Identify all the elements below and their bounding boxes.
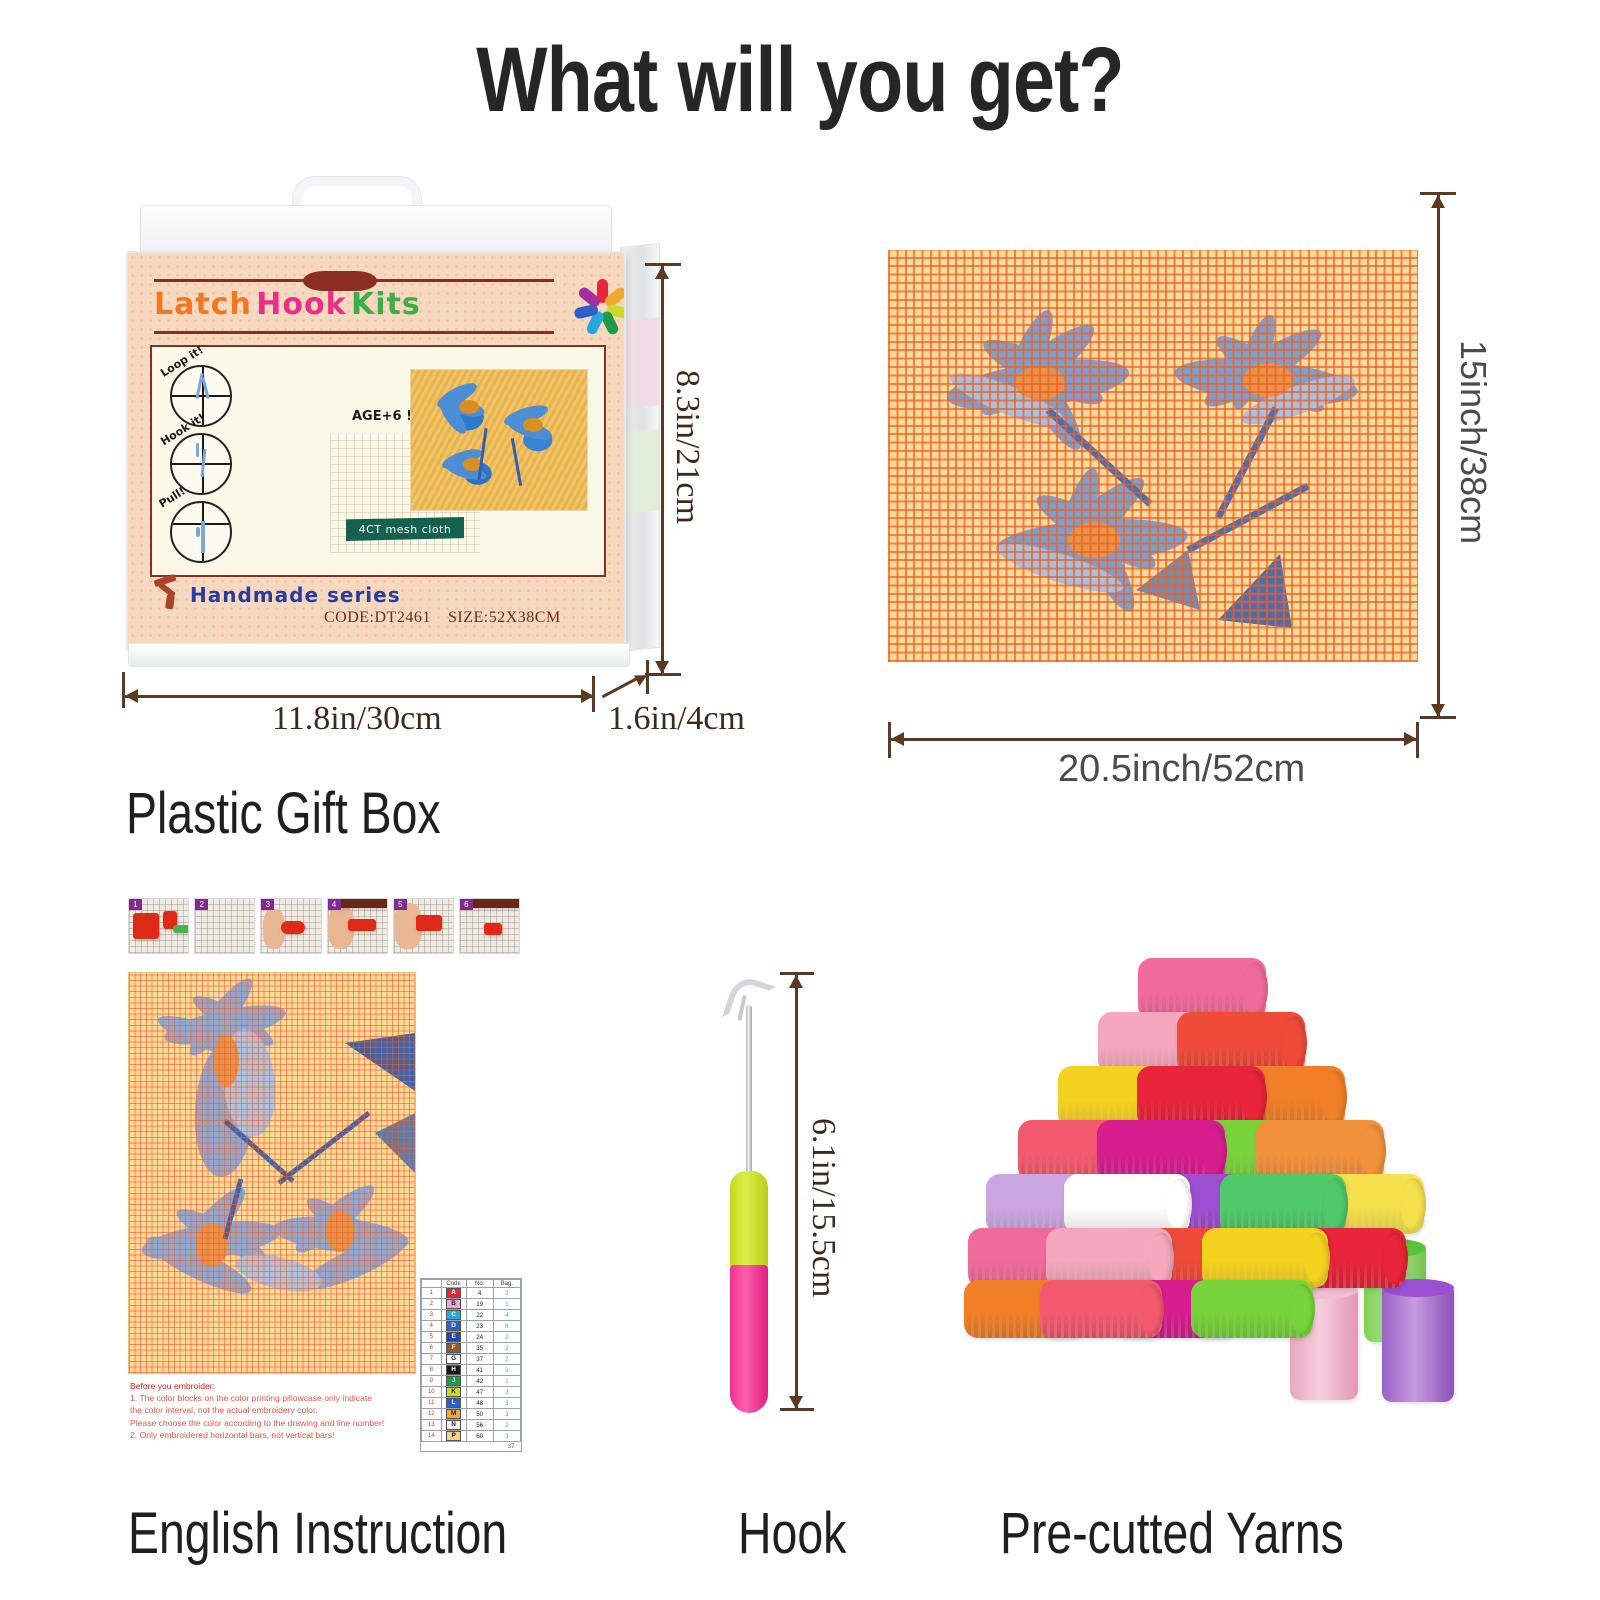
legend-cell-no: 47 [466, 1387, 493, 1398]
legend-cell-bag: 4 [493, 1310, 520, 1321]
legend-cell-code: P [441, 1431, 466, 1442]
age-label: AGE+6 ! [352, 409, 412, 424]
legend-cell-code: H [441, 1365, 466, 1376]
legend-cell-index: 4 [422, 1321, 442, 1332]
yarn-bundle [1138, 958, 1266, 1020]
yarn-bundle-end [1166, 1178, 1192, 1230]
box-side-stripe-green [621, 429, 659, 514]
legend-row: 5E242 [422, 1332, 521, 1343]
legend-cell-bag: 2 [493, 1343, 520, 1354]
legend-cell-no: 56 [466, 1420, 493, 1431]
yarn-bundle-end [1242, 962, 1268, 1015]
notes-line-1: 1. The color blocks on the color printin… [130, 1392, 420, 1404]
yarn-pile-illustration [960, 950, 1460, 1410]
legend-row: 9J421 [422, 1376, 521, 1387]
legend-cell-no: 41 [466, 1365, 493, 1376]
legend-cell-index: 12 [422, 1409, 442, 1420]
yarn-bundle [1256, 1120, 1384, 1182]
legend-cell-code: M [441, 1409, 466, 1420]
legend-row: 3C224 [422, 1310, 521, 1321]
box-side-panel [620, 243, 660, 652]
legend-cell-index: 2 [422, 1299, 442, 1310]
canvas-art-svg [888, 250, 1418, 662]
yarn-bundle [1040, 1280, 1162, 1338]
legend-header-code: Code [441, 1280, 466, 1288]
legend-total-row: 37 [422, 1442, 521, 1452]
box-depth-label: 1.6in/4cm [608, 700, 745, 738]
legend-color-swatch: B [446, 1299, 461, 1309]
legend-cell-bag: 1 [493, 1376, 520, 1387]
caption-pre-cutted-yarns: Pre-cutted Yarns [1000, 1500, 1344, 1567]
product-code-label: CODE:DT2461 [324, 609, 431, 627]
legend-row: 8H413 [422, 1365, 521, 1376]
legend-row: 2B191 [422, 1299, 521, 1310]
legend-cell-no: 22 [466, 1310, 493, 1321]
legend-row: 11L483 [422, 1398, 521, 1409]
legend-cell-no: 50 [466, 1409, 493, 1420]
legend-cell-code: E [441, 1332, 466, 1343]
yarn-bundle-end [1148, 1232, 1174, 1284]
legend-cell-index: 8 [422, 1365, 442, 1376]
thumbnail-step: 2 [194, 898, 255, 954]
legend-cell-bag: 1 [493, 1299, 520, 1310]
brand-wordmark: Latch Hook Kits [154, 287, 554, 331]
yarn-bundle [1097, 1120, 1225, 1182]
legend-cell-index: 9 [422, 1376, 442, 1387]
instruction-step-thumbnails: 1 2 3 4 [128, 898, 520, 960]
brand-rule-bottom [154, 331, 554, 334]
legend-cell-code: L [441, 1398, 466, 1409]
legend-body: 1A422B1913C2244D2365E2426F3527G3728H4139… [422, 1288, 521, 1452]
box-instruction-panel: Loop it! Hook it! Pull! [150, 345, 606, 577]
yarn-bundle [1220, 1174, 1346, 1234]
yarn-bundle-end [1138, 1284, 1164, 1334]
legend-cell-code: F [441, 1343, 466, 1354]
yarn-bundle-end [1322, 1178, 1348, 1230]
thumbnail-step: 1 [128, 898, 189, 954]
yarn-bundle-end [1304, 1232, 1330, 1284]
legend-cell-index: 1 [422, 1288, 442, 1299]
legend-row: 1A42 [422, 1288, 521, 1299]
legend-color-swatch: M [446, 1409, 461, 1419]
legend-header-bag: Bag. [493, 1280, 520, 1288]
legend-table: Code No. Bag. 1A422B1913C2244D2365E2426F… [421, 1279, 521, 1451]
legend-cell-code: G [441, 1354, 466, 1365]
legend-row: 10K473 [422, 1387, 521, 1398]
legend-cell-bag: 3 [493, 1365, 520, 1376]
canvas-flower-art [888, 250, 1418, 662]
legend-color-swatch: P [446, 1431, 461, 1441]
notes-heading: Before you embroider: [130, 1380, 420, 1392]
color-code-legend: Code No. Bag. 1A422B1913C2244D2365E2426F… [420, 1278, 522, 1452]
product-size-label: SIZE:52X38CM [448, 609, 561, 627]
yarn-bundle-purple [1382, 1286, 1454, 1402]
legend-cell-no: 48 [466, 1398, 493, 1409]
page-title: What will you get? [144, 28, 1456, 133]
mesh-ribbon-label: 4CT mesh cloth [346, 517, 464, 541]
caption-plastic-gift-box: Plastic Gift Box [126, 780, 441, 847]
legend-color-swatch: G [446, 1354, 461, 1364]
legend-cell-index: 13 [422, 1420, 442, 1431]
legend-cell-index: 11 [422, 1398, 442, 1409]
thumbnail-step: 3 [260, 898, 321, 954]
legend-header-index [422, 1280, 442, 1288]
brand-word-kits: Kits [351, 287, 421, 322]
notes-line-4: 2. Only embroidered horizontal bars, not… [130, 1429, 420, 1441]
legend-cell-index: 14 [422, 1431, 442, 1442]
mesh-canvas [888, 250, 1418, 662]
legend-cell-code: N [441, 1420, 466, 1431]
legend-cell-code: C [441, 1310, 466, 1321]
legend-color-swatch: H [446, 1365, 461, 1375]
legend-color-swatch: L [446, 1398, 461, 1408]
hook-length-label: 6.1in/15.5cm [804, 1118, 842, 1297]
legend-cell-bag: 2 [493, 1288, 520, 1299]
canvas-height-label: 15inch/38cm [1452, 340, 1494, 544]
yarn-bundle-end [1321, 1070, 1347, 1123]
printed-canvas-illustration [888, 250, 1418, 662]
legend-color-swatch: D [446, 1321, 461, 1331]
caption-hook: Hook [738, 1500, 846, 1567]
legend-row: 12M503 [422, 1409, 521, 1420]
yarn-bundle-end [1241, 1070, 1267, 1123]
handmade-mark-icon [152, 575, 186, 609]
handmade-series-label: Handmade series [190, 583, 401, 607]
legend-total-value: 37 [422, 1442, 521, 1452]
notes-line-2: the color interval, not the actual embro… [130, 1404, 420, 1416]
legend-cell-bag: 2 [493, 1332, 520, 1343]
box-front-face: Latch Hook Kits Loop it! [126, 251, 626, 650]
legend-cell-index: 7 [422, 1354, 442, 1365]
yarn-bundle-end [1400, 1178, 1426, 1230]
caption-english-instruction: English Instruction [128, 1500, 507, 1567]
box-bottom-edge [128, 643, 630, 667]
legend-row: 14P603 [422, 1431, 521, 1442]
yarn-bundle-end [1360, 1124, 1386, 1177]
thumbnail-step: 5 [393, 898, 454, 954]
brand-word-hook: Hook [256, 287, 346, 322]
legend-cell-index: 6 [422, 1343, 442, 1354]
hook-handle-upper [730, 1171, 768, 1271]
legend-color-swatch: K [446, 1387, 461, 1397]
brand-word-latch: Latch [154, 287, 252, 322]
legend-row: 13N562 [422, 1420, 521, 1431]
legend-cell-bag: 2 [493, 1354, 520, 1365]
hook-shaft [746, 1005, 752, 1185]
yarn-bundle-end [1289, 1284, 1315, 1334]
box-height-label: 8.3in/21cm [668, 370, 706, 524]
hook-handle-lower [730, 1265, 768, 1413]
legend-cell-no: 35 [466, 1343, 493, 1354]
yarn-bundle-end [1281, 1016, 1307, 1069]
legend-color-swatch: J [446, 1376, 461, 1386]
legend-header-row: Code No. Bag. [422, 1280, 521, 1288]
infographic-page: What will you get? Latch Hook Kits [0, 0, 1600, 1600]
legend-cell-code: B [441, 1299, 466, 1310]
legend-color-swatch: F [446, 1343, 461, 1353]
legend-cell-index: 10 [422, 1387, 442, 1398]
canvas-width-label: 20.5inch/52cm [1058, 748, 1305, 791]
thumbnail-step: 4 [327, 898, 388, 954]
legend-cell-index: 3 [422, 1310, 442, 1321]
thumbnail-step: 6 [459, 898, 520, 954]
finished-rug-photo [410, 369, 588, 511]
legend-color-swatch: N [446, 1420, 461, 1430]
legend-cell-no: 4 [466, 1288, 493, 1299]
notes-line-3: Please choose the color according to the… [130, 1417, 420, 1429]
legend-header-no: No. [466, 1280, 493, 1288]
yarn-bundle [1191, 1280, 1313, 1338]
gift-box-illustration: Latch Hook Kits Loop it! [118, 205, 658, 675]
legend-row: 7G372 [422, 1354, 521, 1365]
legend-cell-bag: 3 [493, 1409, 520, 1420]
instruction-sheet-illustration: 1 2 3 4 [124, 898, 524, 1478]
legend-cell-bag: 2 [493, 1420, 520, 1431]
legend-cell-code: D [441, 1321, 466, 1332]
box-side-stripe-pink [621, 317, 659, 410]
legend-color-swatch: A [446, 1288, 461, 1298]
legend-cell-no: 37 [466, 1354, 493, 1365]
yarn-bundle [1046, 1228, 1172, 1288]
pattern-grid-overlay [129, 973, 415, 1373]
legend-color-swatch: C [446, 1310, 461, 1320]
yarn-bundle [1064, 1174, 1190, 1234]
legend-cell-code: J [441, 1376, 466, 1387]
legend-cell-code: K [441, 1387, 466, 1398]
legend-cell-bag: 6 [493, 1321, 520, 1332]
legend-cell-no: 60 [466, 1431, 493, 1442]
yarn-bundle [1137, 1066, 1265, 1128]
legend-cell-no: 24 [466, 1332, 493, 1343]
legend-cell-index: 5 [422, 1332, 442, 1343]
before-you-embroider-notes: Before you embroider: 1. The color block… [130, 1380, 420, 1441]
legend-cell-no: 19 [466, 1299, 493, 1310]
legend-row: 6F352 [422, 1343, 521, 1354]
legend-cell-bag: 3 [493, 1431, 520, 1442]
step-diagram-pull [170, 501, 232, 563]
yarn-bundle [1202, 1228, 1328, 1288]
legend-cell-bag: 3 [493, 1387, 520, 1398]
legend-cell-bag: 3 [493, 1398, 520, 1409]
yarn-bundle-end [1201, 1124, 1227, 1177]
legend-row: 4D236 [422, 1321, 521, 1332]
yarn-bundle [1177, 1012, 1305, 1074]
yarn-bundle-end [1382, 1232, 1408, 1284]
legend-cell-no: 42 [466, 1376, 493, 1387]
legend-cell-no: 23 [466, 1321, 493, 1332]
hook-illustration [700, 965, 880, 1435]
box-width-label: 11.8in/30cm [272, 700, 442, 738]
legend-cell-code: A [441, 1288, 466, 1299]
legend-color-swatch: E [446, 1332, 461, 1342]
pattern-chart [128, 972, 416, 1374]
pinwheel-logo-icon [573, 275, 626, 333]
